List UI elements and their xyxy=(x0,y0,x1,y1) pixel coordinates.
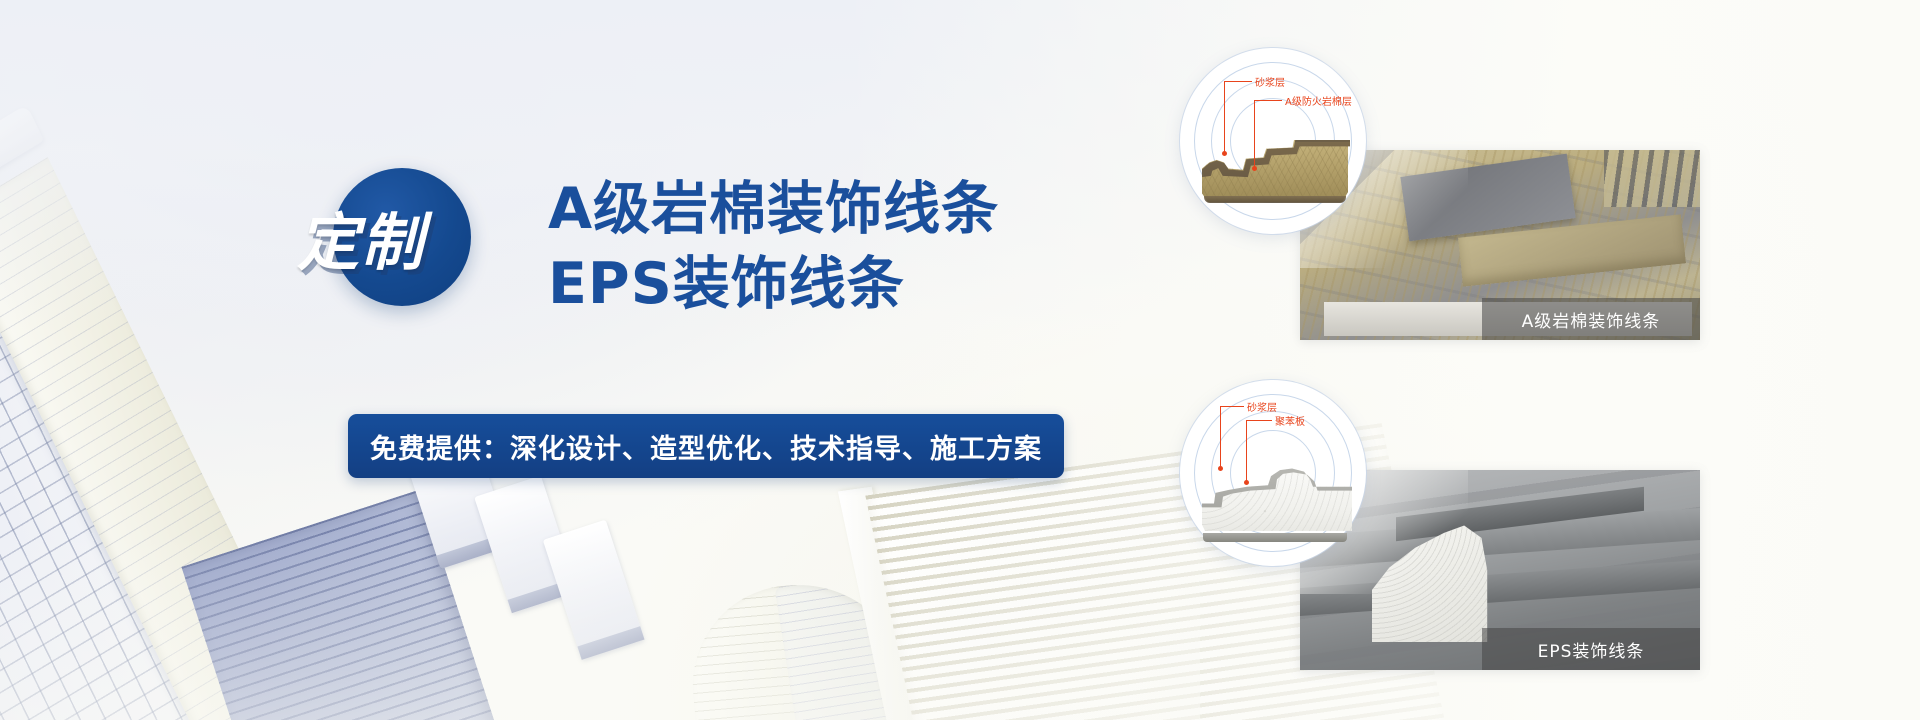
banner-copy-block: 定制 A级岩棉装饰线条 EPS装饰线条 免费提供：深化设计、造型优化、技术指导、… xyxy=(0,0,1100,720)
callout-leader-line xyxy=(1254,100,1255,168)
callout-anchor-dot xyxy=(1252,166,1257,171)
callout-leader-line xyxy=(1246,420,1272,421)
callout-leader-line xyxy=(1254,100,1282,101)
callout-label-eps-board: 聚苯板 xyxy=(1275,413,1305,428)
callout-leader-line xyxy=(1224,81,1252,82)
callout-label-rockwool-layer: A级防火岩棉层 xyxy=(1285,93,1352,108)
callout-leader-line xyxy=(1220,406,1244,407)
eps-base-edge xyxy=(1203,533,1347,542)
callout-leader-line xyxy=(1246,420,1247,482)
services-tagline-bar: 免费提供：深化设计、造型优化、技术指导、施工方案 xyxy=(348,414,1064,478)
callout-label-mortar-rockwool: 砂浆层 xyxy=(1255,74,1285,89)
promo-banner: 定制 A级岩棉装饰线条 EPS装饰线条 免费提供：深化设计、造型优化、技术指导、… xyxy=(0,0,1920,720)
product-caption-eps: EPS装饰线条 xyxy=(1482,628,1700,670)
callout-leader-line xyxy=(1224,81,1225,153)
product-caption-rockwool: A级岩棉装饰线条 xyxy=(1482,298,1700,340)
callout-anchor-dot xyxy=(1222,151,1227,156)
headline-line-2: EPS装饰线条 xyxy=(548,247,999,322)
services-tagline-text: 免费提供：深化设计、造型优化、技术指导、施工方案 xyxy=(370,427,1042,466)
headline-group: A级岩棉装饰线条 EPS装饰线条 xyxy=(548,172,999,322)
product-detail-circle-eps: 砂浆层 聚苯板 xyxy=(1180,380,1366,566)
callout-anchor-dot xyxy=(1244,480,1249,485)
eps-cross-section xyxy=(1202,464,1352,540)
callout-anchor-dot xyxy=(1218,466,1223,471)
product-detail-circle-rockwool: 砂浆层 A级防火岩棉层 xyxy=(1180,48,1366,234)
product-card-eps: EPS装饰线条 砂浆层 聚苯板 xyxy=(1180,380,1700,680)
callout-label-mortar-eps: 砂浆层 xyxy=(1247,399,1277,414)
rockwool-base-edge xyxy=(1204,196,1346,203)
headline-line-1: A级岩棉装饰线条 xyxy=(548,172,999,247)
product-photo-rockwool: A级岩棉装饰线条 xyxy=(1300,150,1700,340)
custom-badge-label: 定制 xyxy=(297,212,507,274)
photo-detail-rack xyxy=(1604,150,1700,207)
callout-leader-line xyxy=(1220,406,1221,468)
product-card-rockwool: A级岩棉装饰线条 砂浆层 A级防火岩棉层 xyxy=(1180,40,1700,340)
